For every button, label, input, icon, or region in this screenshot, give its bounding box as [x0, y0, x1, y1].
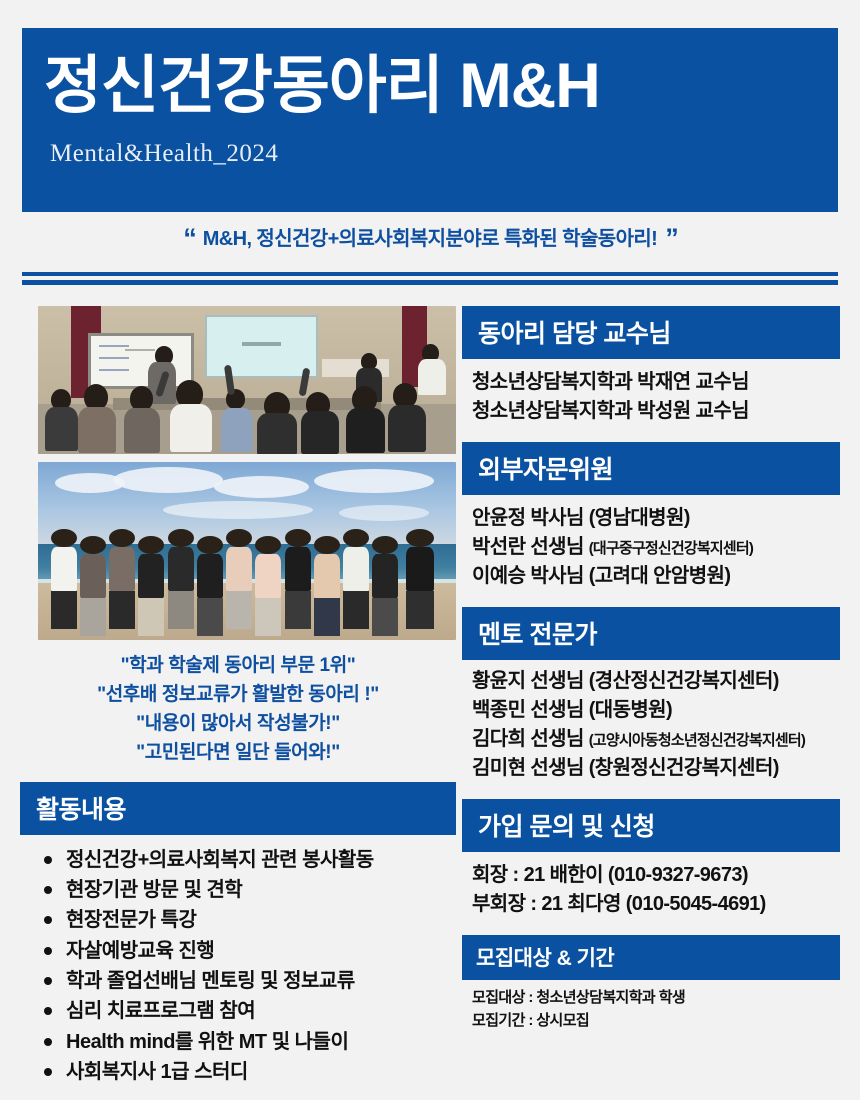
- table-row: 모집대상 : 청소년상담복지학과 학생: [472, 987, 840, 1010]
- advisor-name: 이예승 박사님: [472, 565, 589, 587]
- contact-body: 회장 : 21 배한이 (010-9327-9673) 부회장 : 21 최다영…: [462, 852, 840, 923]
- recruit-block: 모집대상 & 기간 모집대상 : 청소년상담복지학과 학생 모집기간 : 상시모…: [462, 935, 840, 1036]
- advisor-org: (대구중구정신건강복지센터): [589, 540, 753, 557]
- advisor-org: (영남대병원): [589, 507, 690, 529]
- quote-line: "선후배 정보교류가 활발한 동아리 !": [20, 681, 456, 710]
- mentors-block: 멘토 전문가 황윤지 선생님 (경산정신건강복지센터) 백종민 선생님 (대동병…: [462, 607, 840, 787]
- page-title: 정신건강동아리 M&H: [44, 50, 838, 122]
- lecture-hall-photo: [38, 306, 456, 454]
- advisor-name: 박선란 선생님: [472, 536, 589, 558]
- table-row: 부회장 : 21 최다영 (010-5045-4691): [472, 890, 840, 919]
- table-row: 이예승 박사님 (고려대 안암병원): [472, 562, 840, 591]
- list-item: 자살예방교육 진행: [40, 936, 456, 966]
- list-item: Health mind를 위한 MT 및 나들이: [40, 1027, 456, 1057]
- section-header-activities: 활동내용: [20, 782, 456, 835]
- mentor-org: (경산정신건강복지센터): [589, 670, 779, 692]
- hero-subtitle: Mental&Health_2024: [50, 140, 838, 168]
- table-row: 김미현 선생님 (창원정신건강복지센터): [472, 754, 840, 783]
- advisors-block: 외부자문위원 안윤정 박사님 (영남대병원) 박선란 선생님 (대구중구정신건강…: [462, 442, 840, 595]
- table-row: 백종민 선생님 (대동병원): [472, 696, 840, 725]
- quotes-block: "학과 학술제 동아리 부문 1위" "선후배 정보교류가 활발한 동아리 !"…: [20, 652, 456, 768]
- mentor-org: (창원정신건강복지센터): [589, 757, 779, 779]
- divider-line-bottom: [22, 280, 838, 285]
- table-row: 청소년상담복지학과 박성원 교수님: [472, 397, 840, 426]
- tagline-text: M&H, 정신건강+의료사회복지분야로 특화된 학술동아리!: [203, 228, 658, 250]
- quote-line: "고민된다면 일단 들어와!": [20, 739, 456, 768]
- professors-body: 청소년상담복지학과 박재연 교수님 청소년상담복지학과 박성원 교수님: [462, 359, 840, 430]
- activities-list: 정신건강+의료사회복지 관련 봉사활동 현장기관 방문 및 견학 현장전문가 특…: [20, 845, 456, 1088]
- mentor-name: 백종민 선생님: [472, 699, 589, 721]
- list-item: 사회복지사 1급 스터디: [40, 1057, 456, 1087]
- list-item: 심리 치료프로그램 참여: [40, 996, 456, 1026]
- divider: [22, 272, 838, 285]
- table-row: 황윤지 선생님 (경산정신건강복지센터): [472, 667, 840, 696]
- list-item: 현장전문가 특강: [40, 905, 456, 935]
- hero-banner: 정신건강동아리 M&H Mental&Health_2024: [22, 28, 838, 212]
- quote-close-icon: ”: [665, 223, 677, 253]
- advisors-body: 안윤정 박사님 (영남대병원) 박선란 선생님 (대구중구정신건강복지센터) 이…: [462, 495, 840, 595]
- mentor-name: 김미현 선생님: [472, 757, 589, 779]
- quote-open-icon: “: [183, 223, 195, 253]
- mentor-name: 황윤지 선생님: [472, 670, 589, 692]
- professors-block: 동아리 담당 교수님 청소년상담복지학과 박재연 교수님 청소년상담복지학과 박…: [462, 306, 840, 430]
- section-header-contact: 가입 문의 및 신청: [462, 799, 840, 852]
- contact-block: 가입 문의 및 신청 회장 : 21 배한이 (010-9327-9673) 부…: [462, 799, 840, 923]
- section-header-mentors: 멘토 전문가: [462, 607, 840, 660]
- beach-group-photo: [38, 462, 456, 640]
- list-item: 현장기관 방문 및 견학: [40, 875, 456, 905]
- table-row: 박선란 선생님 (대구중구정신건강복지센터): [472, 533, 840, 562]
- list-item: 정신건강+의료사회복지 관련 봉사활동: [40, 845, 456, 875]
- right-column: 동아리 담당 교수님 청소년상담복지학과 박재연 교수님 청소년상담복지학과 박…: [462, 306, 840, 1048]
- quote-line: "내용이 많아서 작성불가!": [20, 710, 456, 739]
- mentor-org: (대동병원): [589, 699, 672, 721]
- recruit-body: 모집대상 : 청소년상담복지학과 학생 모집기간 : 상시모집: [462, 980, 840, 1036]
- mentor-name: 김다희 선생님: [472, 728, 589, 750]
- table-row: 청소년상담복지학과 박재연 교수님: [472, 368, 840, 397]
- table-row: 회장 : 21 배한이 (010-9327-9673): [472, 861, 840, 890]
- advisor-name: 안윤정 박사님: [472, 507, 589, 529]
- left-column: "학과 학술제 동아리 부문 1위" "선후배 정보교류가 활발한 동아리 !"…: [20, 306, 456, 1088]
- mentor-org: (고양시아동청소년정신건강복지센터): [589, 732, 805, 749]
- section-header-recruit: 모집대상 & 기간: [462, 935, 840, 980]
- table-row: 김다희 선생님 (고양시아동청소년정신건강복지센터): [472, 725, 840, 754]
- tagline: “M&H, 정신건강+의료사회복지분야로 특화된 학술동아리!”: [0, 222, 860, 254]
- quote-line: "학과 학술제 동아리 부문 1위": [20, 652, 456, 681]
- mentors-body: 황윤지 선생님 (경산정신건강복지센터) 백종민 선생님 (대동병원) 김다희 …: [462, 660, 840, 787]
- table-row: 모집기간 : 상시모집: [472, 1010, 840, 1033]
- section-header-professors: 동아리 담당 교수님: [462, 306, 840, 359]
- section-header-advisors: 외부자문위원: [462, 442, 840, 495]
- list-item: 학과 졸업선배님 멘토링 및 정보교류: [40, 966, 456, 996]
- advisor-org: (고려대 안암병원): [589, 565, 731, 587]
- table-row: 안윤정 박사님 (영남대병원): [472, 504, 840, 533]
